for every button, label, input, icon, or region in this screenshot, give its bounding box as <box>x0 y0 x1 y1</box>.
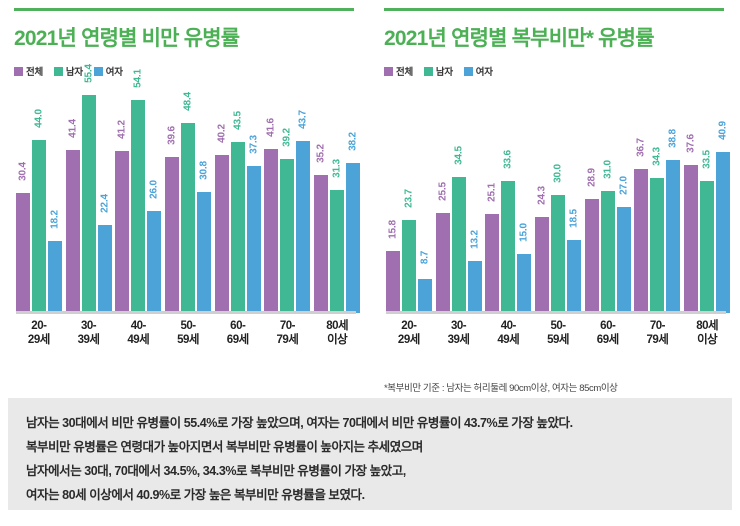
x-axis-labels-abdominal: 20-29세30-39세40-49세50-59세60-69세70-79세80세이… <box>384 315 732 353</box>
bar-group: 37.633.540.9 <box>682 85 732 313</box>
x-axis-label: 50-59세 <box>533 315 583 353</box>
bar-value-label: 31.0 <box>602 160 613 179</box>
bar-wrap: 43.5 <box>231 85 245 313</box>
bar-wrap: 25.1 <box>485 85 499 313</box>
bar-wrap: 30.4 <box>16 85 30 313</box>
bar-value-label: 25.5 <box>437 182 448 201</box>
charts-container: 2021년 연령별 비만 유병률 전체 남자 여자 30.444.018.241… <box>0 0 740 396</box>
bar-남자[interactable] <box>32 140 46 313</box>
bar-value-label: 39.6 <box>167 126 178 145</box>
bar-여자[interactable] <box>567 240 581 313</box>
bar-전체[interactable] <box>115 151 129 313</box>
axis-baseline-abdominal <box>386 311 726 314</box>
legend-item-male: 남자 <box>54 64 83 78</box>
legend-swatch-female <box>94 67 103 76</box>
bar-남자[interactable] <box>650 178 664 313</box>
bar-wrap: 38.2 <box>346 85 360 313</box>
bar-wrap: 40.2 <box>215 85 229 313</box>
bar-여자[interactable] <box>296 141 310 313</box>
bar-여자[interactable] <box>147 211 161 313</box>
bar-value-label: 41.2 <box>117 120 128 139</box>
bar-wrap: 33.5 <box>700 85 714 313</box>
bar-value-label: 35.2 <box>316 144 327 163</box>
bar-value-label: 33.5 <box>702 150 713 169</box>
legend-label-male: 남자 <box>66 64 83 78</box>
bar-value-label: 27.0 <box>618 176 629 195</box>
bar-value-label: 15.0 <box>519 223 530 242</box>
bar-여자[interactable] <box>517 254 531 313</box>
bar-남자[interactable] <box>551 195 565 313</box>
x-axis-labels-obesity: 20-29세30-39세40-49세50-59세60-69세70-79세80세이… <box>14 315 362 353</box>
bar-value-label: 30.4 <box>17 162 28 181</box>
bar-group: 35.231.338.2 <box>312 85 362 313</box>
bar-남자[interactable] <box>181 123 195 313</box>
bar-wrap: 18.2 <box>48 85 62 313</box>
bar-value-label: 40.2 <box>216 124 227 143</box>
bar-value-label: 26.0 <box>149 180 160 199</box>
bar-남자[interactable] <box>501 181 515 313</box>
bar-여자[interactable] <box>48 241 62 313</box>
legend-obesity: 전체 남자 여자 <box>14 65 358 77</box>
summary-box: 남자는 30대에서 비만 유병률이 55.4%로 가장 높았으며, 여자는 70… <box>8 398 732 510</box>
legend-abdominal: 전체 남자 여자 <box>384 65 728 77</box>
bar-group: 28.931.027.0 <box>583 85 633 313</box>
bar-wrap: 13.2 <box>468 85 482 313</box>
bar-group: 25.133.615.0 <box>483 85 533 313</box>
bar-wrap: 34.3 <box>650 85 664 313</box>
x-axis-label: 60-69세 <box>213 315 263 353</box>
bar-value-label: 22.4 <box>99 194 110 213</box>
bar-value-label: 38.2 <box>348 132 359 151</box>
bar-value-label: 41.4 <box>67 119 78 138</box>
bar-wrap: 31.0 <box>601 85 615 313</box>
bar-전체[interactable] <box>386 251 400 313</box>
legend-swatch-total <box>14 67 23 76</box>
bar-wrap: 25.5 <box>436 85 450 313</box>
bar-value-label: 25.1 <box>487 183 498 202</box>
bar-남자[interactable] <box>330 190 344 313</box>
bar-여자[interactable] <box>418 279 432 313</box>
bar-value-label: 23.7 <box>403 189 414 208</box>
bar-value-label: 24.3 <box>537 186 548 205</box>
bar-value-label: 15.8 <box>387 220 398 239</box>
bar-wrap: 43.7 <box>296 85 310 313</box>
bar-value-label: 28.9 <box>586 168 597 187</box>
x-axis-label: 70-79세 <box>263 315 313 353</box>
legend-item-female: 여자 <box>94 64 123 78</box>
bar-value-label: 48.4 <box>183 92 194 111</box>
x-axis-label: 80세이상 <box>682 315 732 353</box>
bar-여자[interactable] <box>468 261 482 313</box>
bar-value-label: 34.5 <box>453 146 464 165</box>
bar-wrap: 31.3 <box>330 85 344 313</box>
x-axis-label: 60-69세 <box>583 315 633 353</box>
bar-wrap: 54.1 <box>131 85 145 313</box>
bar-wrap: 8.7 <box>418 85 432 313</box>
bar-남자[interactable] <box>452 177 466 313</box>
bar-chart-abdominal: 15.823.78.725.534.513.225.133.615.024.33… <box>384 85 728 353</box>
bar-wrap: 26.0 <box>147 85 161 313</box>
bar-value-label: 43.5 <box>232 111 243 130</box>
bar-value-label: 18.2 <box>49 210 60 229</box>
panel-obesity: 2021년 연령별 비만 유병률 전체 남자 여자 30.444.018.241… <box>0 0 370 396</box>
bar-전체[interactable] <box>634 169 648 313</box>
bar-group: 41.639.243.7 <box>263 85 313 313</box>
bar-wrap: 39.2 <box>280 85 294 313</box>
legend-swatch-male <box>54 67 63 76</box>
bar-value-label: 13.2 <box>469 230 480 249</box>
bar-wrap: 38.8 <box>666 85 680 313</box>
bar-남자[interactable] <box>231 142 245 313</box>
legend-item-total: 전체 <box>14 64 43 78</box>
bar-여자[interactable] <box>247 166 261 313</box>
x-axis-label: 70-79세 <box>633 315 683 353</box>
x-axis-label: 40-49세 <box>483 315 533 353</box>
bar-wrap: 39.6 <box>165 85 179 313</box>
bar-value-label: 43.7 <box>298 110 309 129</box>
bar-남자[interactable] <box>280 159 294 313</box>
x-axis-label: 20-29세 <box>14 315 64 353</box>
bar-wrap: 18.5 <box>567 85 581 313</box>
bar-group: 36.734.338.8 <box>633 85 683 313</box>
bar-wrap: 24.3 <box>535 85 549 313</box>
footnote-abdominal-criteria: *복부비만 기준 : 남자는 허리둘레 90cm이상, 여자는 85cm이상 <box>384 380 618 394</box>
legend-swatch-total <box>384 67 393 76</box>
legend-item-male: 남자 <box>424 64 453 78</box>
bar-value-label: 37.3 <box>248 135 259 154</box>
bar-value-label: 31.3 <box>332 159 343 178</box>
bar-wrap: 37.3 <box>247 85 261 313</box>
bar-남자[interactable] <box>402 220 416 313</box>
bar-wrap: 28.9 <box>585 85 599 313</box>
bar-wrap: 37.6 <box>684 85 698 313</box>
bar-wrap: 41.6 <box>264 85 278 313</box>
bar-value-label: 39.2 <box>282 128 293 147</box>
bar-남자[interactable] <box>82 95 96 313</box>
bar-group: 41.254.126.0 <box>113 85 163 313</box>
bar-wrap: 23.7 <box>402 85 416 313</box>
bar-남자[interactable] <box>131 100 145 313</box>
title-rule-right <box>384 8 724 11</box>
bar-wrap: 15.0 <box>517 85 531 313</box>
bar-group: 15.823.78.7 <box>384 85 434 313</box>
x-axis-label: 20-29세 <box>384 315 434 353</box>
bar-value-label: 37.6 <box>686 134 697 153</box>
bar-value-label: 38.8 <box>668 129 679 148</box>
bar-wrap: 33.6 <box>501 85 515 313</box>
bar-wrap: 34.5 <box>452 85 466 313</box>
bar-전체[interactable] <box>165 157 179 313</box>
summary-line: 복부비만 유병률은 연령대가 높아지면서 복부비만 유병률이 높아지는 추세였으… <box>26 435 714 459</box>
bar-wrap: 22.4 <box>98 85 112 313</box>
axis-baseline-obesity <box>16 311 356 314</box>
bar-wrap: 36.7 <box>634 85 648 313</box>
plot-area-obesity: 30.444.018.241.455.422.441.254.126.039.6… <box>14 85 362 313</box>
legend-swatch-male <box>424 67 433 76</box>
bar-전체[interactable] <box>314 175 328 313</box>
bar-wrap: 30.0 <box>551 85 565 313</box>
bar-group: 41.455.422.4 <box>64 85 114 313</box>
summary-line: 남자에서는 30대, 70대에서 34.5%, 34.3%로 복부비만 유병률이… <box>26 459 714 483</box>
bar-group: 30.444.018.2 <box>14 85 64 313</box>
bar-value-label: 8.7 <box>419 251 430 264</box>
chart-title-obesity: 2021년 연령별 비만 유병률 <box>14 22 358 52</box>
x-axis-label: 30-39세 <box>434 315 484 353</box>
bar-wrap: 40.9 <box>716 85 730 313</box>
legend-label-female: 여자 <box>476 64 493 78</box>
bar-여자[interactable] <box>666 160 680 313</box>
bar-wrap: 27.0 <box>617 85 631 313</box>
x-axis-label: 30-39세 <box>64 315 114 353</box>
bar-wrap: 30.8 <box>197 85 211 313</box>
bar-value-label: 41.6 <box>266 118 277 137</box>
bar-value-label: 55.4 <box>83 64 94 83</box>
bar-value-label: 18.5 <box>569 209 580 228</box>
legend-swatch-female <box>464 67 473 76</box>
bar-전체[interactable] <box>684 165 698 313</box>
bar-value-label: 40.9 <box>718 121 729 140</box>
summary-line: 남자는 30대에서 비만 유병률이 55.4%로 가장 높았으며, 여자는 70… <box>26 411 714 435</box>
legend-label-total: 전체 <box>396 64 413 78</box>
bar-group: 24.330.018.5 <box>533 85 583 313</box>
bar-전체[interactable] <box>16 193 30 313</box>
bar-여자[interactable] <box>716 152 730 313</box>
legend-label-total: 전체 <box>26 64 43 78</box>
bar-남자[interactable] <box>601 191 615 313</box>
bar-전체[interactable] <box>66 150 80 313</box>
legend-label-female: 여자 <box>106 64 123 78</box>
bar-value-label: 44.0 <box>33 109 44 128</box>
bar-전체[interactable] <box>585 199 599 313</box>
bar-wrap: 41.4 <box>66 85 80 313</box>
chart-title-abdominal: 2021년 연령별 복부비만* 유병률 <box>384 22 728 52</box>
bar-남자[interactable] <box>700 181 714 313</box>
bar-value-label: 54.1 <box>133 69 144 88</box>
bar-value-label: 34.3 <box>652 147 663 166</box>
x-axis-label: 40-49세 <box>113 315 163 353</box>
bar-wrap: 35.2 <box>314 85 328 313</box>
legend-label-male: 남자 <box>436 64 453 78</box>
x-axis-label: 50-59세 <box>163 315 213 353</box>
bar-wrap: 55.4 <box>82 85 96 313</box>
bar-전체[interactable] <box>264 149 278 313</box>
title-rule-left <box>14 8 354 11</box>
bar-여자[interactable] <box>617 207 631 313</box>
bar-여자[interactable] <box>346 163 360 313</box>
bar-group: 40.243.537.3 <box>213 85 263 313</box>
bar-여자[interactable] <box>98 225 112 313</box>
bar-전체[interactable] <box>485 214 499 313</box>
plot-area-abdominal: 15.823.78.725.534.513.225.133.615.024.33… <box>384 85 732 313</box>
bar-wrap: 44.0 <box>32 85 46 313</box>
bar-전체[interactable] <box>215 155 229 313</box>
x-axis-label: 80세이상 <box>312 315 362 353</box>
bar-group: 39.648.430.8 <box>163 85 213 313</box>
bar-전체[interactable] <box>535 217 549 313</box>
bar-value-label: 30.0 <box>553 164 564 183</box>
bar-value-label: 30.8 <box>199 161 210 180</box>
bar-wrap: 48.4 <box>181 85 195 313</box>
bar-group: 25.534.513.2 <box>434 85 484 313</box>
bar-여자[interactable] <box>197 192 211 313</box>
bar-전체[interactable] <box>436 213 450 313</box>
panel-abdominal-obesity: 2021년 연령별 복부비만* 유병률 전체 남자 여자 15.823.78.7… <box>370 0 740 396</box>
bar-wrap: 15.8 <box>386 85 400 313</box>
bar-value-label: 36.7 <box>636 138 647 157</box>
legend-item-female: 여자 <box>464 64 493 78</box>
bar-wrap: 41.2 <box>115 85 129 313</box>
summary-line: 여자는 80세 이상에서 40.9%로 가장 높은 복부비만 유병률을 보였다. <box>26 483 714 507</box>
bar-value-label: 33.6 <box>503 150 514 169</box>
bar-chart-obesity: 30.444.018.241.455.422.441.254.126.039.6… <box>14 85 358 353</box>
legend-item-total: 전체 <box>384 64 413 78</box>
